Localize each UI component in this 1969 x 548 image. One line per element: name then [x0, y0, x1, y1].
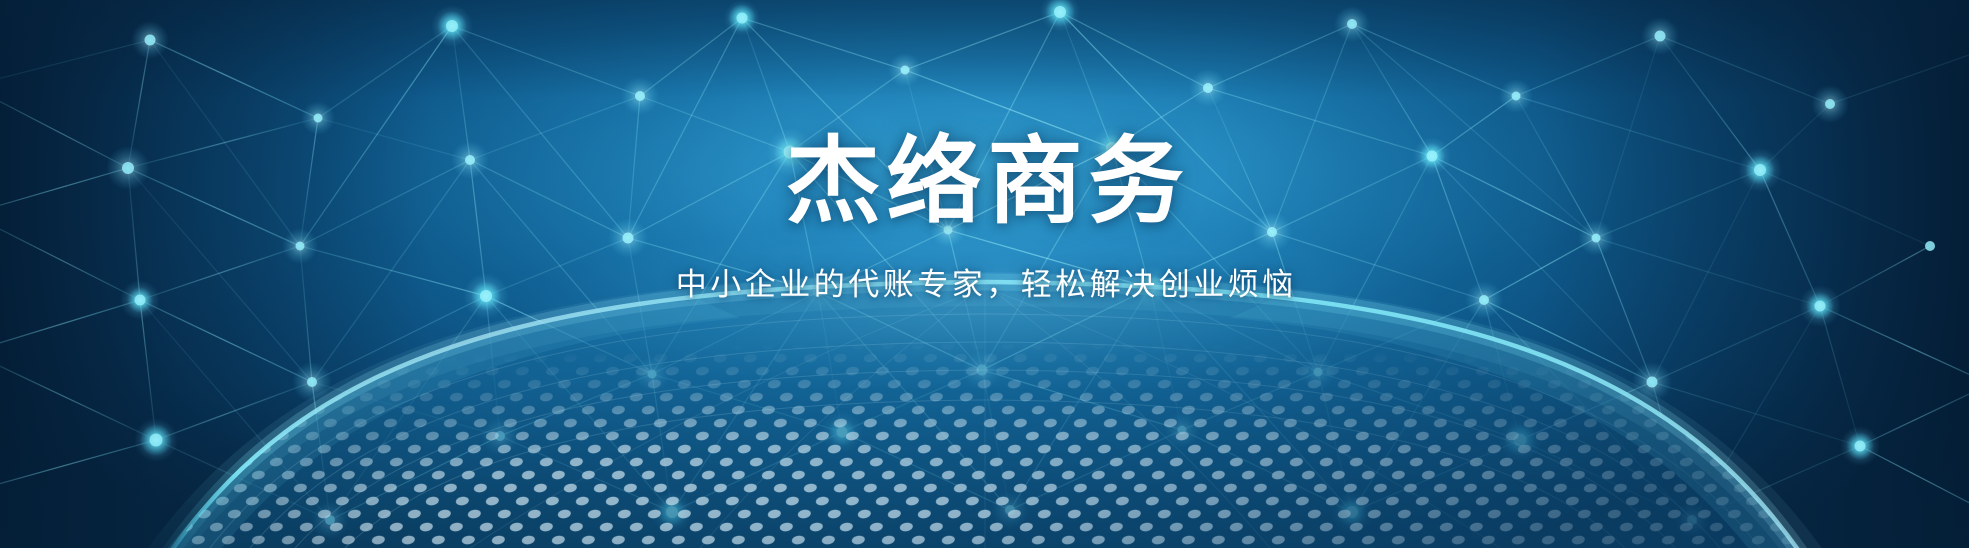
hero-banner: 杰络商务 中小企业的代账专家，轻松解决创业烦恼: [0, 0, 1969, 548]
crown-light-overlay: [0, 0, 1969, 548]
